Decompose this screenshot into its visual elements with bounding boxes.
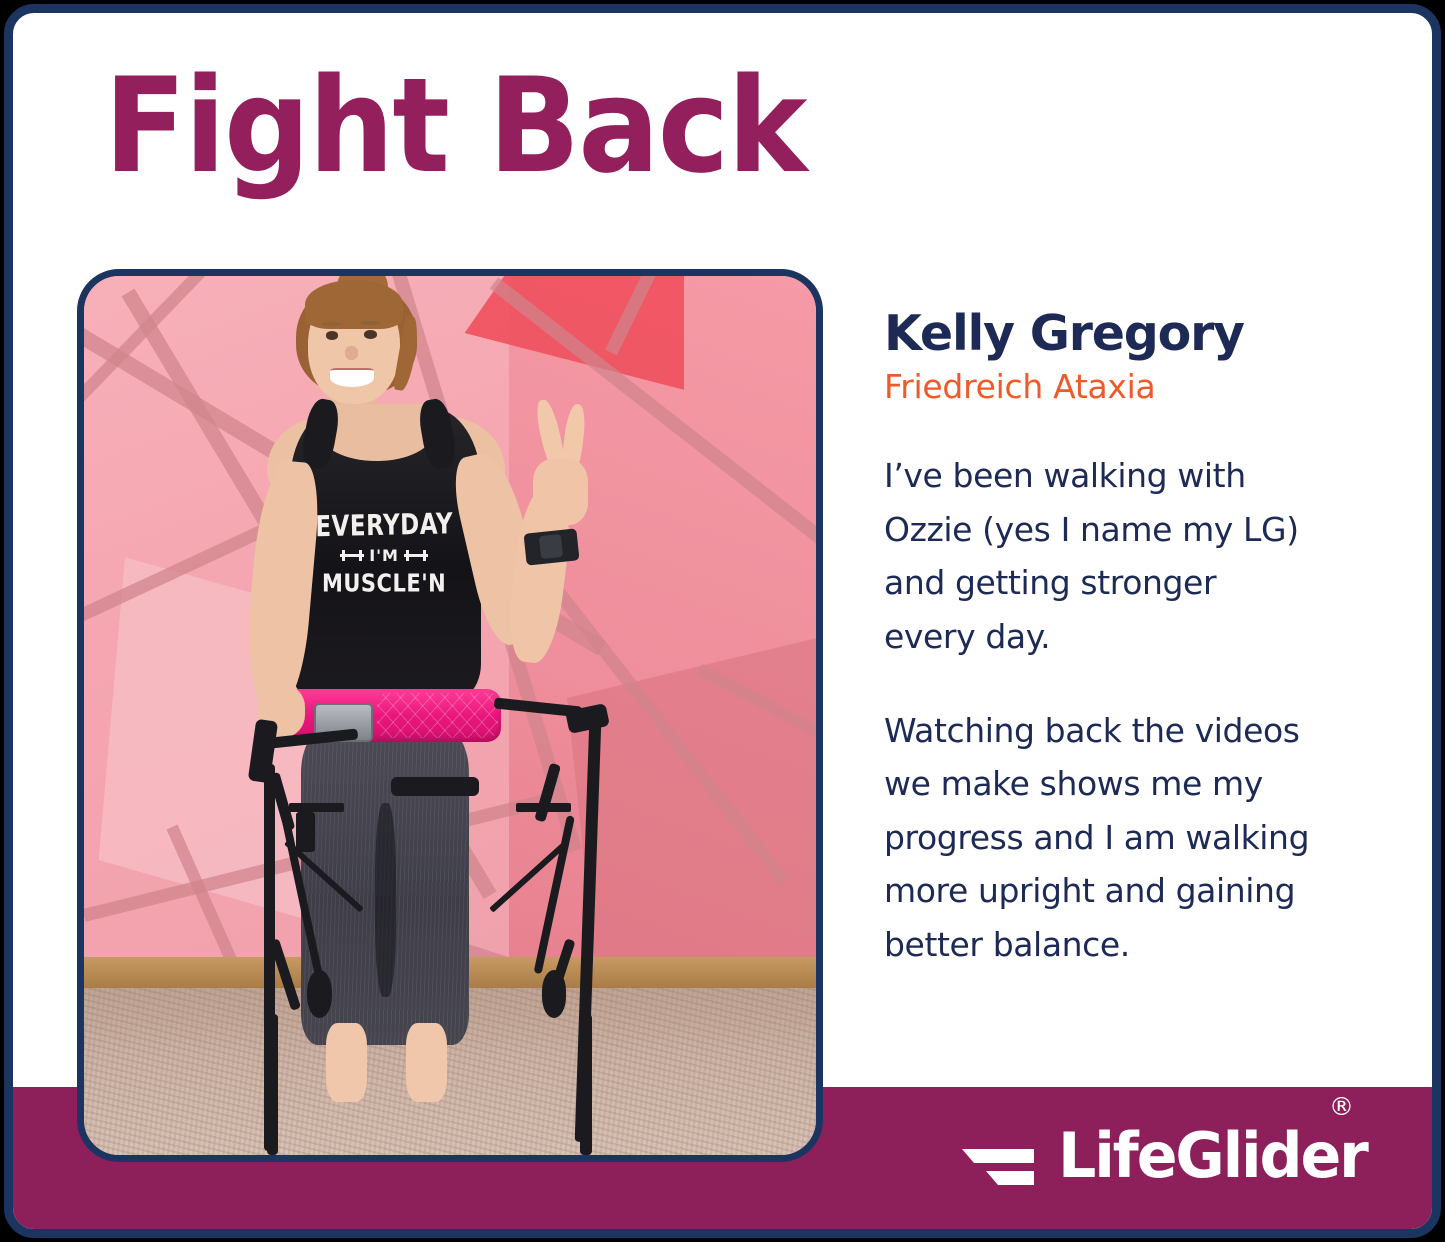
walker-brace-right: [516, 803, 571, 812]
brand-wordmark: LifeGlider: [1058, 1125, 1367, 1187]
lifeglider-glider-icon: [962, 1139, 1034, 1193]
walker-front-leg-right: [580, 1014, 592, 1155]
person-name: Kelly Gregory: [884, 309, 1414, 360]
testimonial-info: Kelly Gregory Friedreich Ataxia I’ve bee…: [884, 309, 1414, 971]
photo-content: EVERYDAY I'M MUSCLE'N: [84, 276, 816, 1155]
lifeglider-logo[interactable]: LifeGlider ®: [962, 1125, 1376, 1193]
testimonial-card: Fight Back: [4, 4, 1441, 1238]
walker-frame-right: [535, 763, 561, 822]
quote-paragraph-2: Watching back the videos we make shows m…: [884, 704, 1414, 971]
walker-wheel-left: [307, 970, 332, 1017]
walker-handlebar-left: [270, 729, 359, 750]
lifeglider-walker: [84, 276, 816, 1155]
walker-wheel-right: [542, 970, 567, 1017]
quote-paragraph-1: I’ve been walking with Ozzie (yes I name…: [884, 449, 1414, 663]
page-title: Fight Back: [104, 60, 806, 191]
person-condition: Friedreich Ataxia: [884, 366, 1414, 407]
walker-brace-left: [289, 803, 344, 812]
walker-front-leg-left: [267, 1014, 278, 1155]
walker-seat: [391, 777, 479, 796]
walker-brake-housing: [296, 812, 315, 852]
testimonial-photo: EVERYDAY I'M MUSCLE'N: [77, 269, 823, 1162]
registered-trademark-icon: ®: [1329, 1094, 1354, 1119]
